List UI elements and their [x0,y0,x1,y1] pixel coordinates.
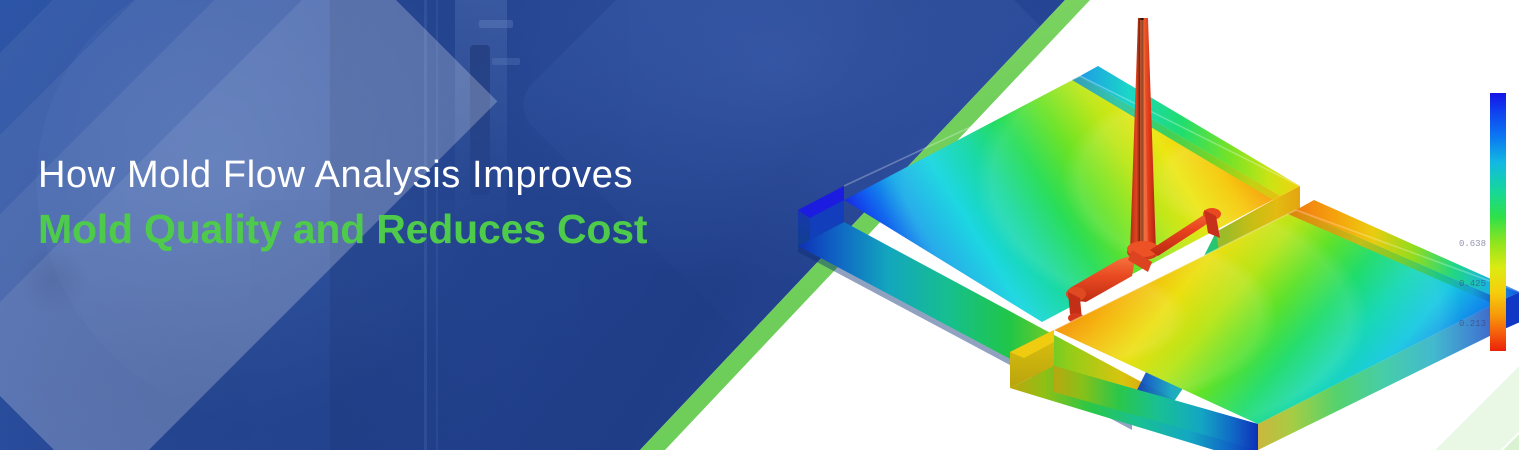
ghost-machine-dot [18,245,88,315]
mold-flow-simulation-render [780,0,1519,450]
legend-value-max: 0.638 [1459,239,1486,249]
color-scale-ticks: 0.638 0.425 0.213 [1428,93,1486,351]
color-scale-bar [1490,93,1506,351]
ghost-machine-tick-1 [479,20,513,28]
hero-banner: How Mold Flow Analysis Improves Mold Qua… [0,0,1519,450]
headline-block: How Mold Flow Analysis Improves Mold Qua… [38,152,798,254]
ghost-machine-tick-2 [492,58,520,65]
legend-value-min: 0.213 [1459,319,1486,329]
color-scale-legend: 0.638 0.425 0.213 [1490,93,1506,351]
legend-value-mid: 0.425 [1459,279,1486,289]
headline-line-1: How Mold Flow Analysis Improves [38,152,798,200]
headline-line-2: Mold Quality and Reduces Cost [38,204,798,254]
